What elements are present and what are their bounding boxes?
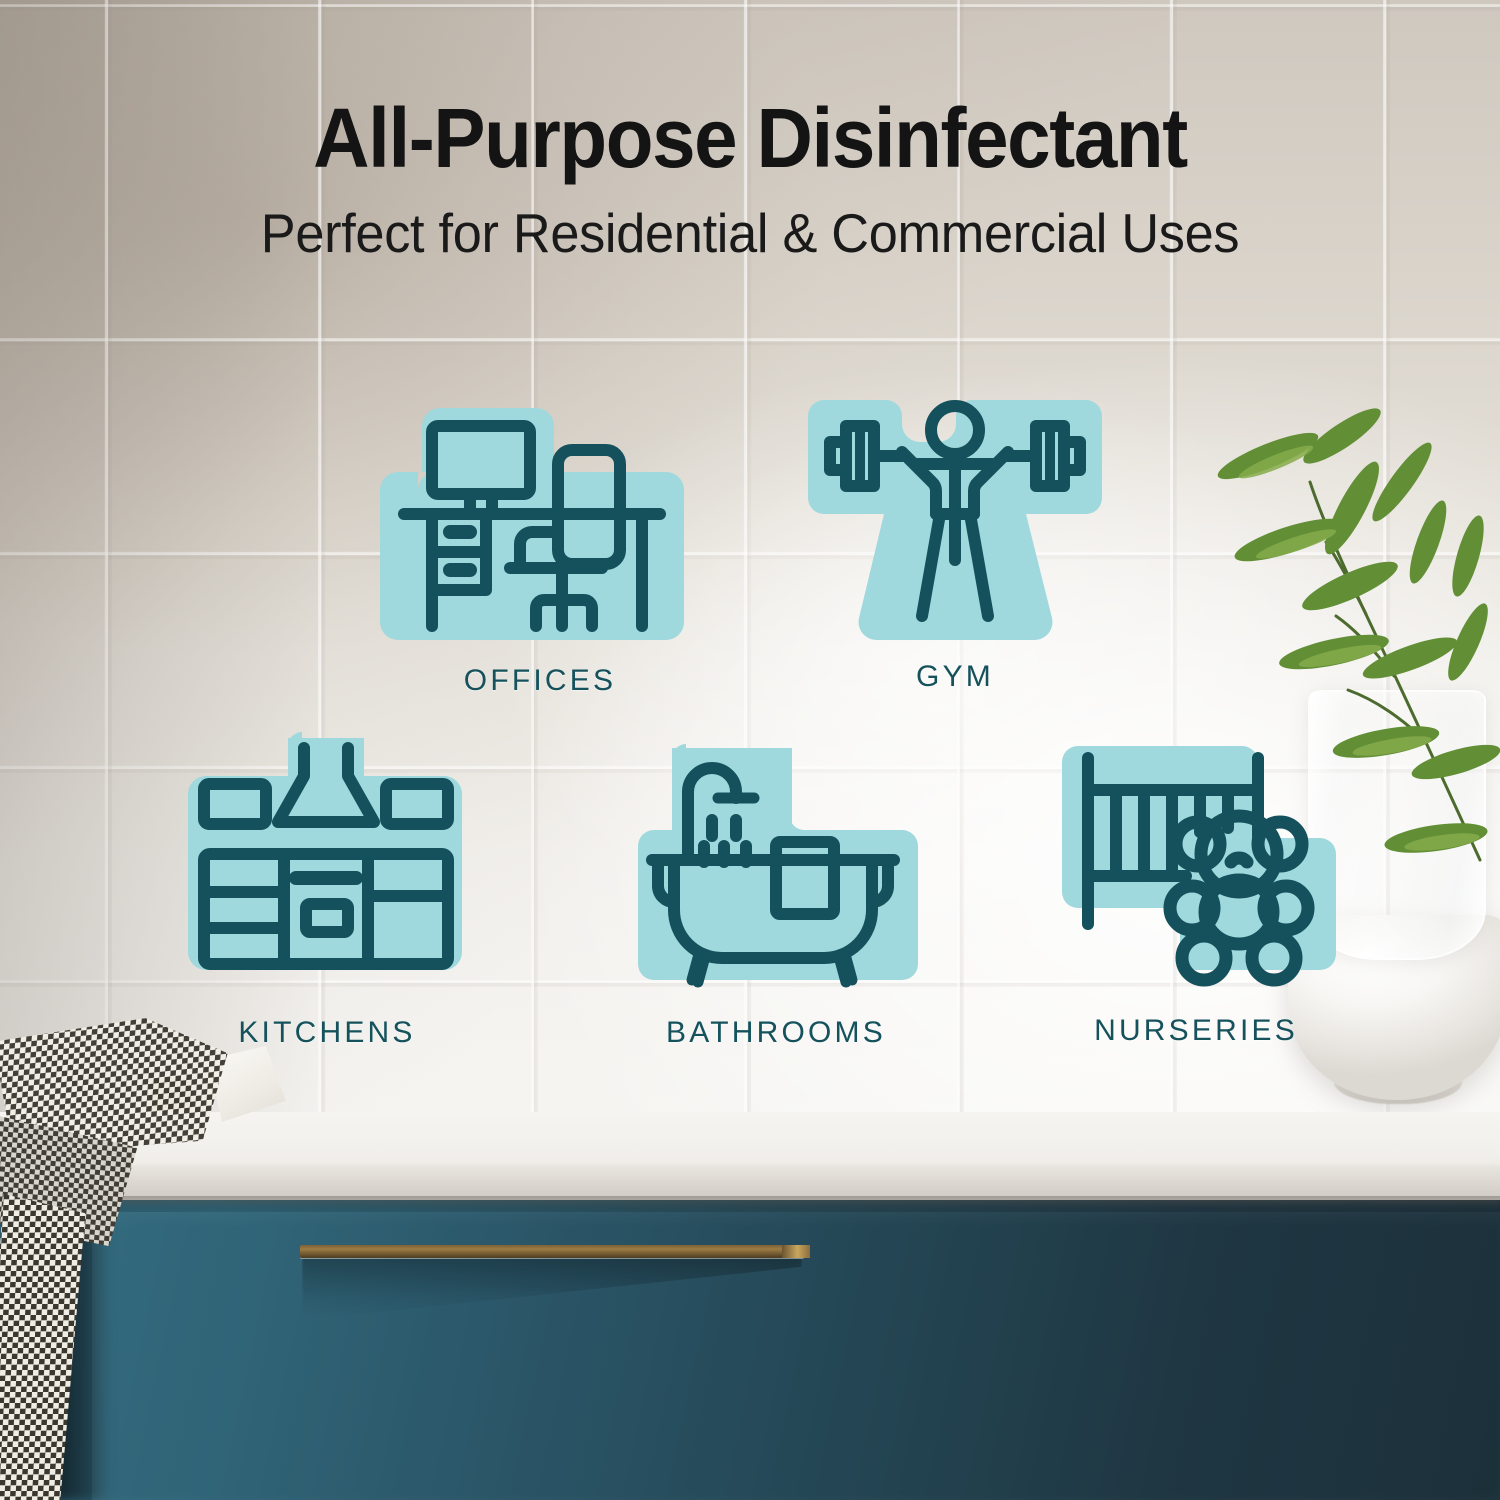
badge-offices[interactable]: OFFICES xyxy=(370,398,710,658)
cabinet-handle[interactable] xyxy=(300,1245,804,1258)
badge-kitchens-label: KITCHENS xyxy=(172,1016,482,1050)
towel-hanging-panel xyxy=(0,1194,86,1500)
badge-kitchens[interactable]: KITCHENS xyxy=(172,738,482,1004)
page-title: All-Purpose Disinfectant xyxy=(53,96,1448,180)
badge-gym-label: GYM xyxy=(790,660,1120,694)
badge-nurseries[interactable]: NURSERIES xyxy=(1046,736,1346,1004)
page-subtitle: Perfect for Residential & Commercial Use… xyxy=(38,206,1463,261)
badge-nurseries-label: NURSERIES xyxy=(1046,1014,1346,1048)
cabinet-handle-highlight xyxy=(782,1245,810,1258)
badge-bathrooms[interactable]: BATHROOMS xyxy=(626,748,926,1016)
badge-offices-label: OFFICES xyxy=(370,664,710,698)
badge-gym[interactable]: GYM xyxy=(790,390,1120,652)
product-infographic: All-Purpose Disinfectant Perfect for Res… xyxy=(0,0,1500,1500)
heading-block: All-Purpose Disinfectant Perfect for Res… xyxy=(0,96,1500,261)
badge-bathrooms-label: BATHROOMS xyxy=(626,1016,926,1050)
